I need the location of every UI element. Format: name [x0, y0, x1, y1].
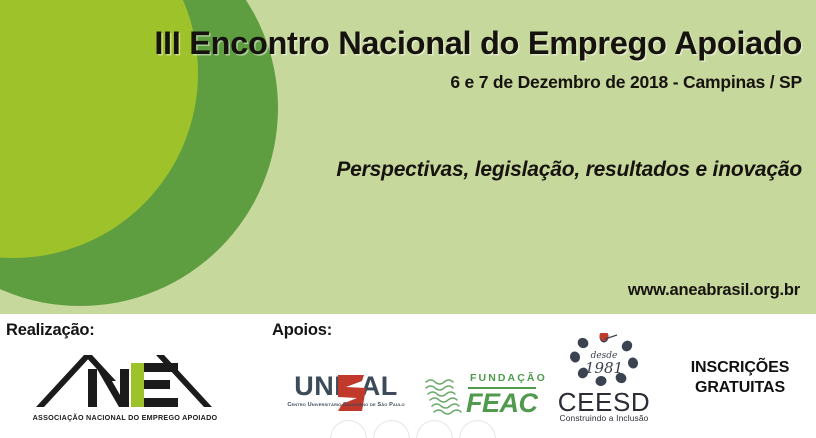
apoios-label: Apoios:: [272, 321, 332, 340]
email-button[interactable]: [459, 420, 496, 438]
ceesd-subtitle: Construindo a Inclusão: [545, 413, 663, 423]
ceesd-emblem-icon: desde 1981: [561, 333, 647, 389]
ceesd-emblem-line2: 1981: [585, 359, 623, 377]
facebook-button[interactable]: [330, 420, 367, 438]
event-date-location: 6 e 7 de Dezembro de 2018 - Campinas / S…: [450, 72, 802, 93]
unisal-subtitle: Centro Universitário Salesiano de São Pa…: [276, 402, 416, 408]
twitter-button[interactable]: [373, 420, 410, 438]
unisal-logo: UNISAL Centro Universitário Salesiano de…: [276, 371, 416, 426]
realizacao-label: Realização:: [6, 321, 95, 340]
linkedin-button[interactable]: [416, 420, 453, 438]
feac-kicker: FUNDAÇÃO: [470, 372, 547, 384]
poster-banner: III Encontro Nacional do Emprego Apoiado…: [0, 0, 816, 314]
feac-hatch-decoration: [424, 374, 468, 418]
registration-line-2: GRATUITAS: [670, 378, 810, 398]
registration-notice: INSCRIÇÕES GRATUITAS: [670, 358, 810, 399]
feac-wordmark: FEAC: [466, 388, 538, 419]
registration-line-1: INSCRIÇÕES: [670, 358, 810, 378]
anea-subtitle: ASSOCIAÇÃO NACIONAL DO EMPREGO APOIADO: [30, 413, 220, 422]
website-url[interactable]: www.aneabrasil.org.br: [628, 281, 800, 300]
anea-logo-mark: [30, 349, 220, 411]
unisal-swoosh-icon: [332, 367, 370, 419]
event-title: III Encontro Nacional do Emprego Apoiado: [154, 25, 802, 62]
ceesd-logo: desde 1981 CEESD Construindo a Inclusão: [545, 333, 663, 431]
anea-logo: ASSOCIAÇÃO NACIONAL DO EMPREGO APOIADO: [30, 349, 220, 431]
feac-logo: FUNDAÇÃO FEAC: [424, 370, 536, 422]
event-tagline: Perspectivas, legislação, resultados e i…: [336, 158, 802, 182]
social-links: [330, 420, 496, 438]
event-poster: III Encontro Nacional do Emprego Apoiado…: [0, 0, 816, 438]
